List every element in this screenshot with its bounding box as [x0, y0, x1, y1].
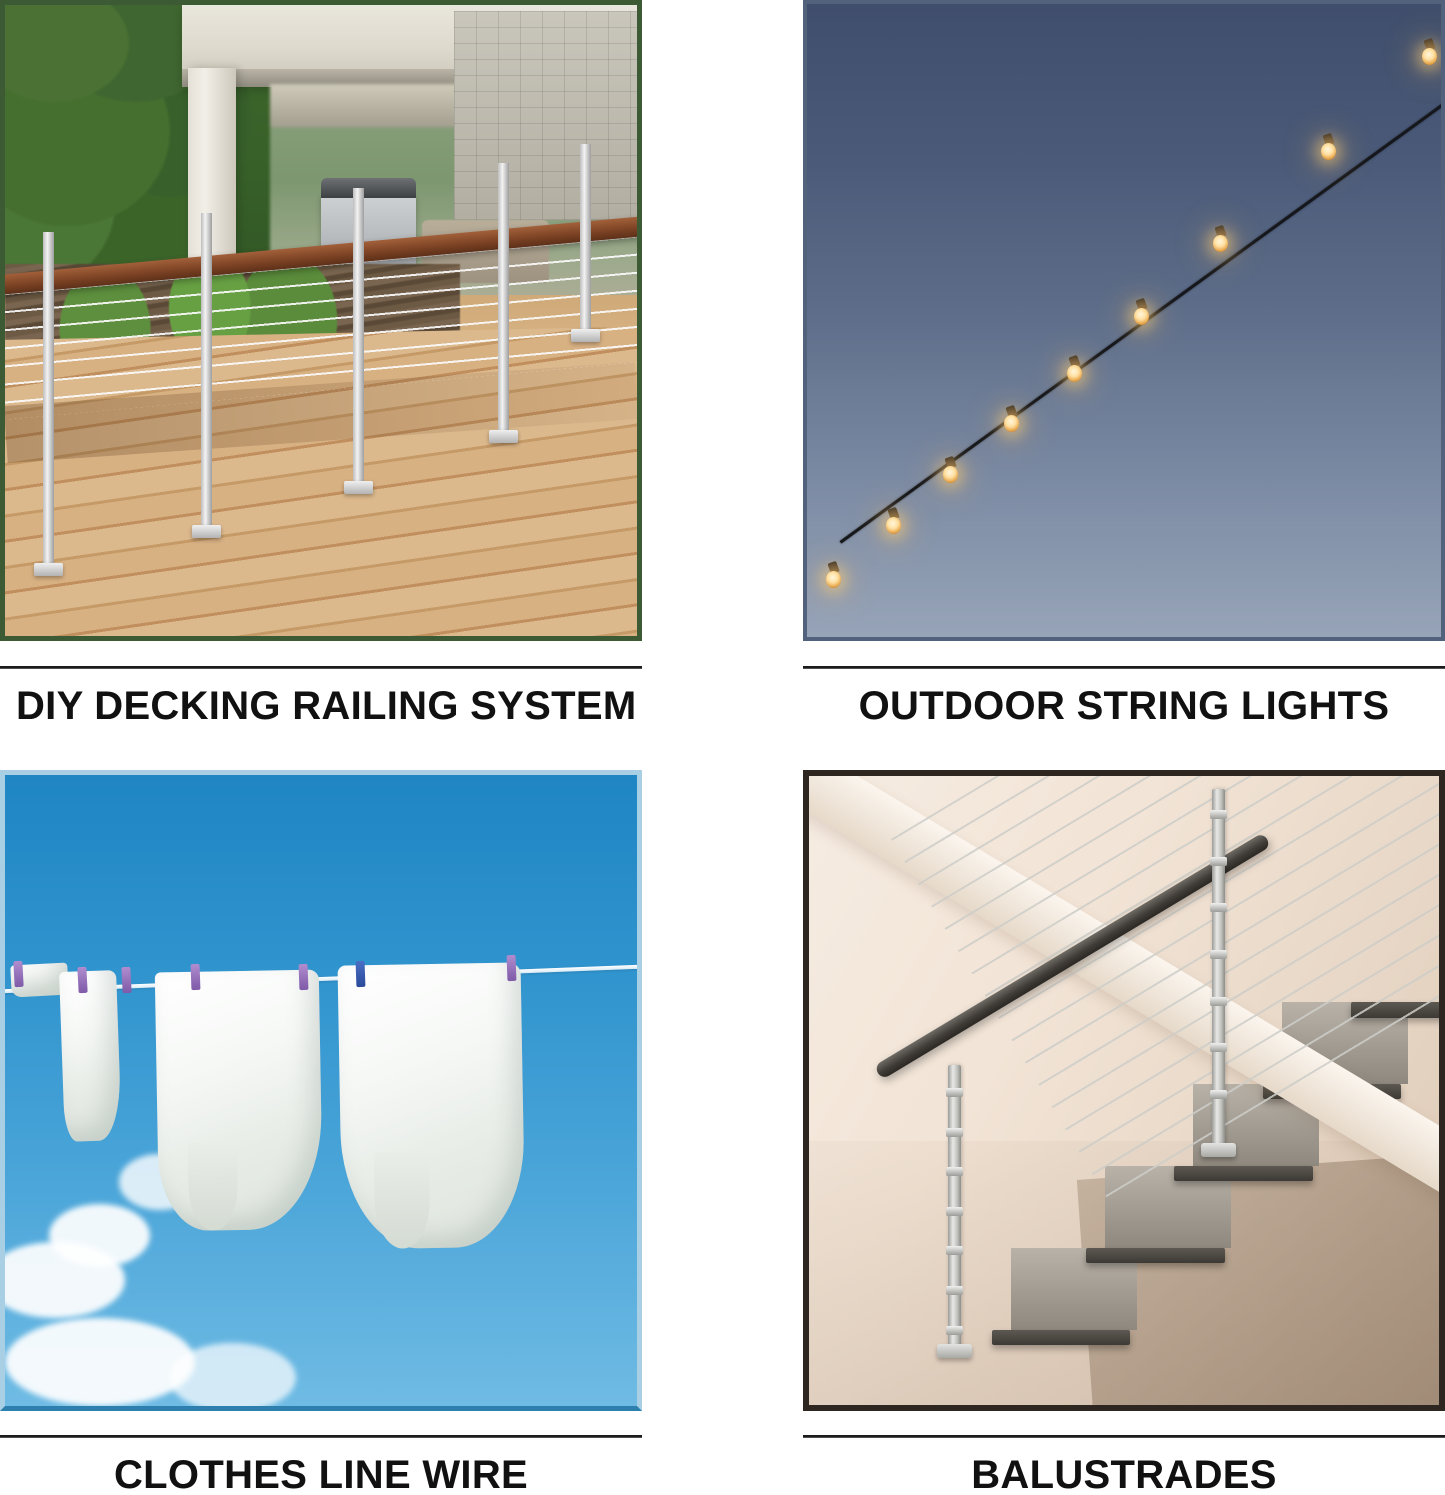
railing-post: [353, 188, 364, 485]
light-bulb: [1422, 48, 1437, 63]
railing-post: [580, 144, 591, 333]
light-bulb: [1213, 235, 1228, 250]
deck-scene: [5, 5, 637, 636]
caption-block-deck: DIY DECKING RAILING SYSTEM: [0, 666, 642, 727]
stone-wall: [454, 11, 637, 219]
photo-balustrade[interactable]: [803, 770, 1445, 1411]
caption-divider: [0, 1435, 642, 1438]
balustrade-scene: [809, 776, 1439, 1405]
clothespin: [355, 961, 365, 987]
cable-fitting: [1210, 1043, 1227, 1052]
light-bulb: [1004, 415, 1019, 430]
cable-fitting: [946, 1286, 963, 1295]
cable-fitting: [1210, 1090, 1227, 1099]
clothespin: [77, 967, 87, 993]
caption-diy-decking-railing-system: DIY DECKING RAILING SYSTEM: [0, 685, 642, 727]
caption-clothes-line-wire: CLOTHES LINE WIRE: [0, 1454, 642, 1495]
clothespin: [191, 964, 201, 990]
light-bulb: [943, 466, 958, 481]
hanging-garment: [337, 963, 525, 1250]
railing-post: [43, 232, 54, 566]
caption-divider: [803, 1435, 1445, 1438]
cable-fitting: [1210, 857, 1227, 866]
caption-outdoor-string-lights: OUTDOOR STRING LIGHTS: [803, 685, 1445, 727]
application-grid: DIY DECKING RAILING SYSTEM OUTDOOR STRIN…: [0, 0, 1445, 1495]
light-bulb: [1067, 365, 1082, 380]
caption-balustrades: BALUSTRADES: [803, 1454, 1445, 1495]
caption-block-clothes-line: CLOTHES LINE WIRE: [0, 1435, 642, 1495]
panel-diy-decking-railing-system[interactable]: DIY DECKING RAILING SYSTEM: [0, 0, 642, 735]
caption-divider: [0, 666, 642, 669]
photo-clothes-line[interactable]: [0, 770, 642, 1411]
cable-fitting: [1210, 810, 1227, 819]
cloud: [169, 1343, 295, 1411]
string-lights-scene: [807, 4, 1441, 637]
cable-fitting: [946, 1128, 963, 1137]
cable-fitting: [946, 1167, 963, 1176]
cable-fitting: [946, 1088, 963, 1097]
stair-tread: [992, 1330, 1131, 1345]
cloud: [5, 1318, 195, 1406]
railing-post: [201, 213, 212, 529]
photo-string-lights[interactable]: [803, 0, 1445, 641]
clothespin: [14, 961, 24, 987]
cable-fitting: [946, 1326, 963, 1335]
hanging-garment: [154, 969, 323, 1231]
panel-outdoor-string-lights[interactable]: OUTDOOR STRING LIGHTS: [803, 0, 1445, 735]
cable-fitting: [946, 1246, 963, 1255]
railing-post: [498, 163, 509, 434]
light-bulb: [886, 517, 901, 532]
clothespin: [121, 967, 131, 993]
hanging-garment: [59, 970, 122, 1142]
panel-balustrades[interactable]: BALUSTRADES: [803, 770, 1445, 1495]
light-bulb: [1134, 308, 1149, 323]
panel-clothes-line-wire[interactable]: CLOTHES LINE WIRE: [0, 770, 642, 1495]
photo-deck-railing[interactable]: [0, 0, 642, 641]
cable-fitting: [1210, 997, 1227, 1006]
caption-block-balustrades: BALUSTRADES: [803, 1435, 1445, 1495]
caption-divider: [803, 666, 1445, 669]
clothespin: [298, 964, 308, 990]
balustrade-post: [1212, 789, 1225, 1148]
cloud: [0, 1242, 125, 1318]
cable-fitting: [946, 1207, 963, 1216]
light-bulb: [1321, 143, 1336, 158]
clothes-line-scene: [5, 775, 637, 1406]
stair-tread: [1086, 1248, 1225, 1263]
cable-fitting: [1210, 950, 1227, 959]
balustrade-post: [948, 1065, 961, 1348]
clothespin: [507, 955, 517, 981]
caption-block-string-lights: OUTDOOR STRING LIGHTS: [803, 666, 1445, 727]
light-bulb: [826, 571, 841, 586]
cable-fitting: [1210, 903, 1227, 912]
